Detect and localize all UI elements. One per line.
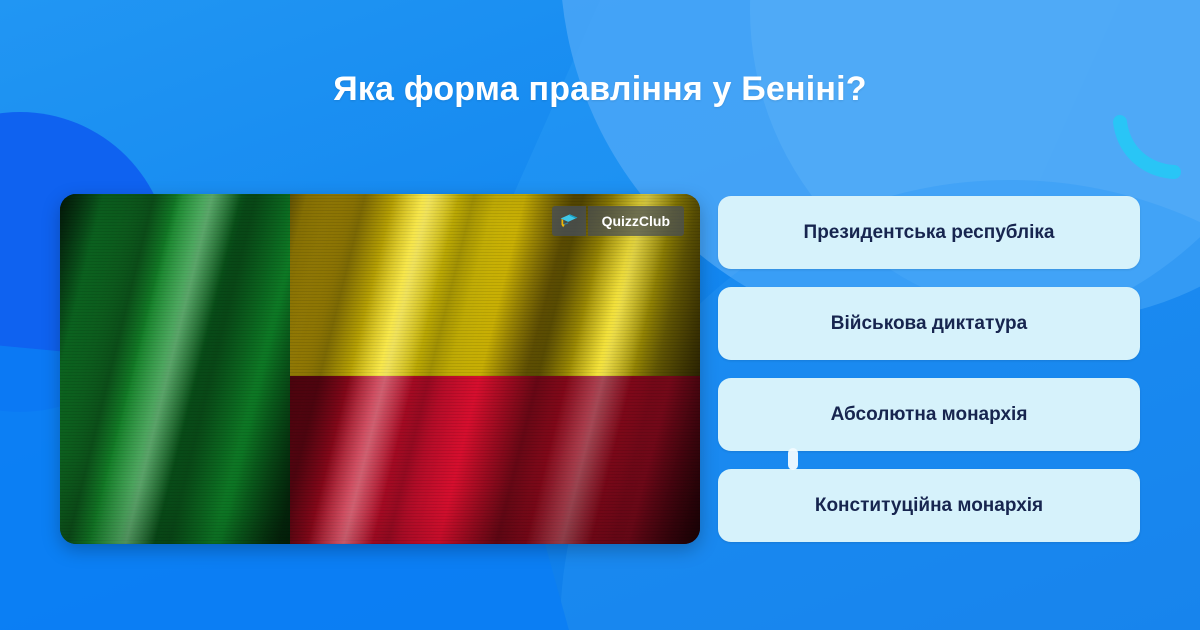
watermark: QuizzClub xyxy=(552,206,684,236)
answer-list: Президентська республіка Військова дикта… xyxy=(718,196,1140,542)
watermark-label: QuizzClub xyxy=(588,206,684,236)
flag-vignette xyxy=(60,194,700,544)
question-image: QuizzClub xyxy=(60,194,700,544)
scroll-nub[interactable] xyxy=(788,448,798,470)
quiz-card: Яка форма правління у Беніні? QuizzClub xyxy=(0,0,1200,630)
answer-option-4-label: Конституційна монархія xyxy=(801,495,1057,517)
benin-flag-graphic xyxy=(60,194,700,544)
answer-option-2[interactable]: Військова диктатура xyxy=(718,287,1140,360)
page-title: Яка форма правління у Беніні? xyxy=(0,70,1200,109)
answer-option-2-label: Військова диктатура xyxy=(817,313,1041,335)
answer-option-1[interactable]: Президентська республіка xyxy=(718,196,1140,269)
cyan-arc-icon xyxy=(1110,112,1186,188)
answer-option-4[interactable]: Конституційна монархія xyxy=(718,469,1140,542)
answer-option-3-label: Абсолютна монархія xyxy=(817,404,1042,426)
answer-option-1-label: Президентська республіка xyxy=(790,222,1069,244)
answer-option-3[interactable]: Абсолютна монархія xyxy=(718,378,1140,451)
graduation-cap-icon xyxy=(552,206,586,236)
